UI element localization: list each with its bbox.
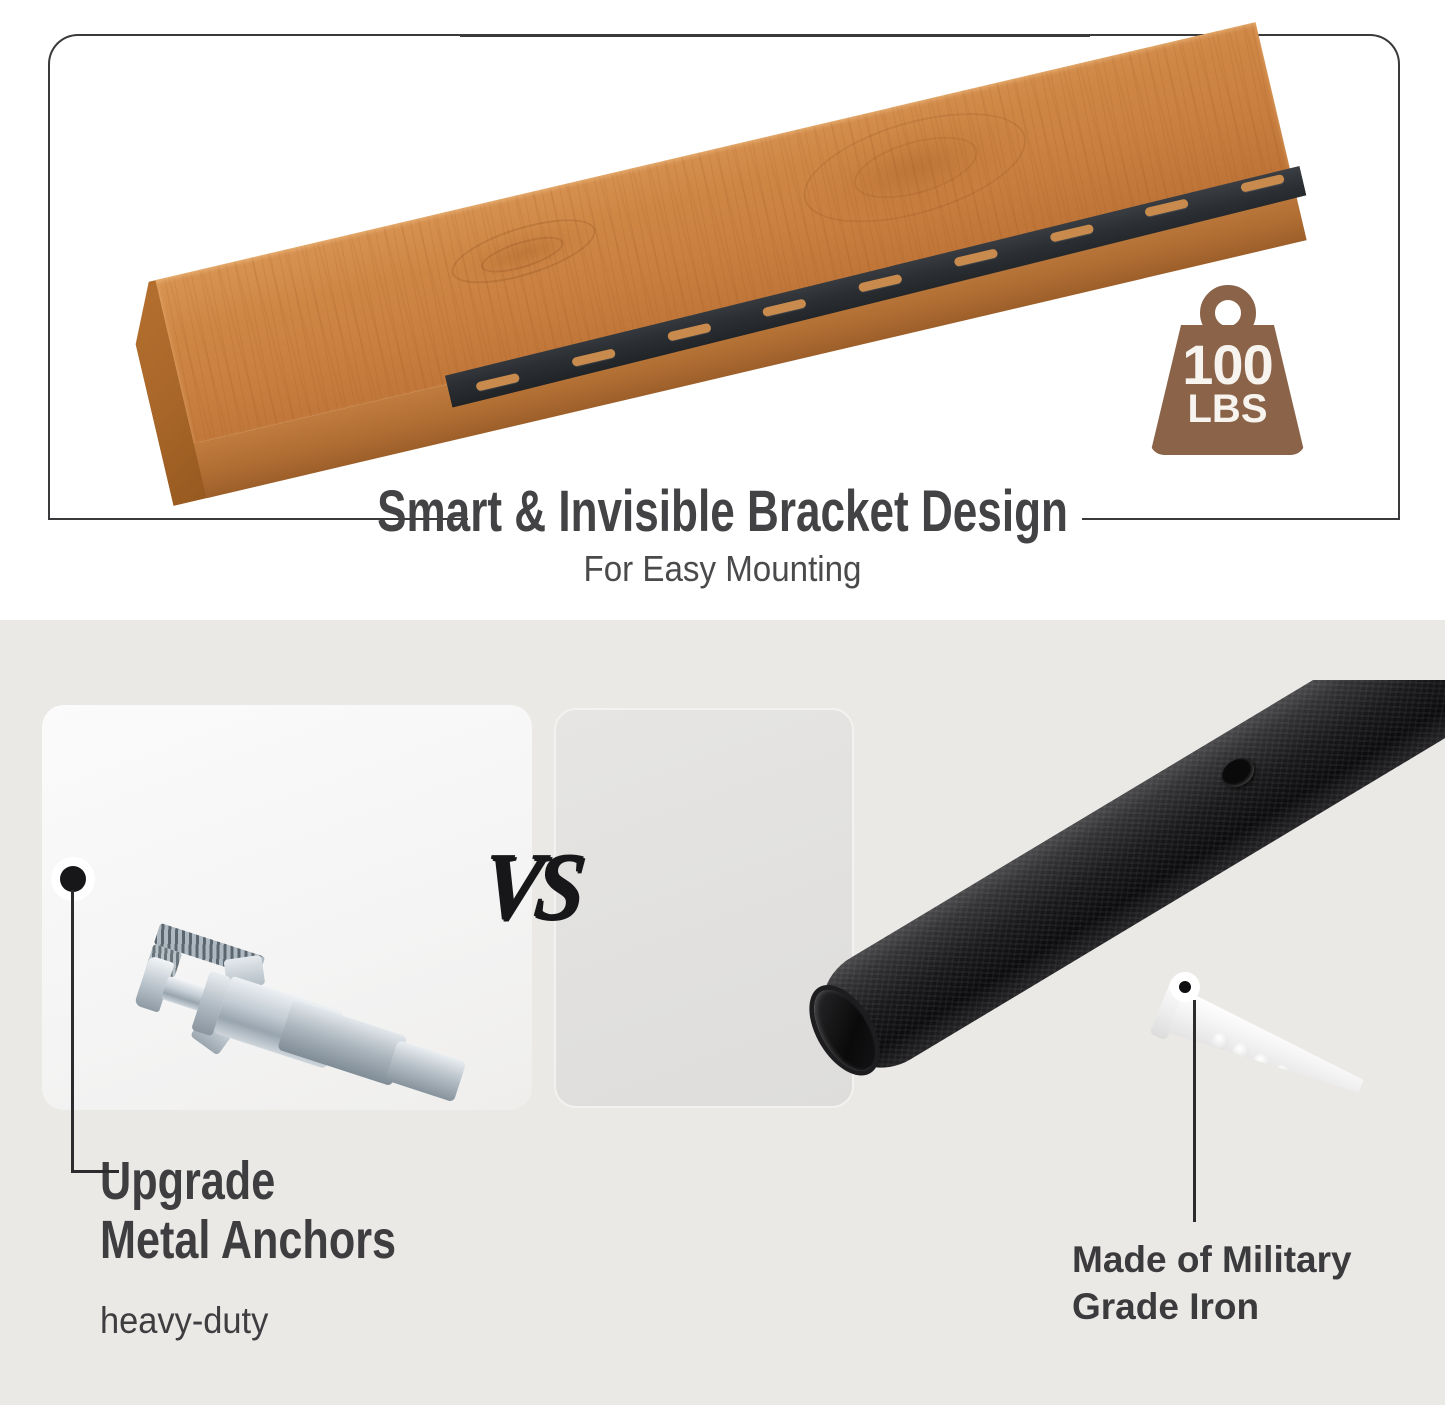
wood-shelf-product-image [120, 0, 1320, 470]
bracket-slot [858, 273, 903, 292]
bracket-slot [1049, 224, 1094, 243]
page-title: Smart & Invisible Bracket Design [173, 478, 1271, 545]
bracket-slot [953, 248, 998, 267]
weight-capacity-badge: 100 LBS [1150, 285, 1305, 455]
pipe-open-end [802, 980, 888, 1081]
anchor-tail [385, 1040, 466, 1102]
weight-badge-text: 100 LBS [1150, 339, 1305, 427]
bracket-slot [666, 323, 711, 342]
iron-pipe-callout-ring [1170, 972, 1200, 1002]
weight-unit: LBS [1150, 391, 1305, 428]
pipe-screw-hole [1217, 753, 1260, 793]
metal-anchor-caption-title: Upgrade Metal Anchors [100, 1152, 596, 1270]
weight-value: 100 [1150, 339, 1305, 391]
metal-anchor-callout-dot [60, 866, 86, 892]
vs-brush-mark: VS [476, 826, 599, 946]
metal-wall-anchor-icon [123, 923, 502, 1148]
iron-pipe-caption-title: Made of Military Grade Iron [1072, 1236, 1445, 1331]
page-subtitle: For Easy Mounting [58, 548, 1387, 590]
bracket-slot [762, 298, 807, 317]
metal-anchor-caption-subtitle: heavy-duty [100, 1300, 546, 1342]
iron-pipe-leader-line [1193, 1000, 1196, 1222]
iron-pipe-product-image [770, 680, 1445, 1240]
metal-anchor-leader-vertical [71, 890, 74, 1173]
metal-anchor-leader-horizontal [71, 1170, 119, 1173]
bracket-slot [571, 348, 616, 367]
iron-pipe-icon [800, 680, 1445, 1090]
metal-anchor-card [42, 705, 532, 1110]
bracket-slot [475, 373, 520, 392]
